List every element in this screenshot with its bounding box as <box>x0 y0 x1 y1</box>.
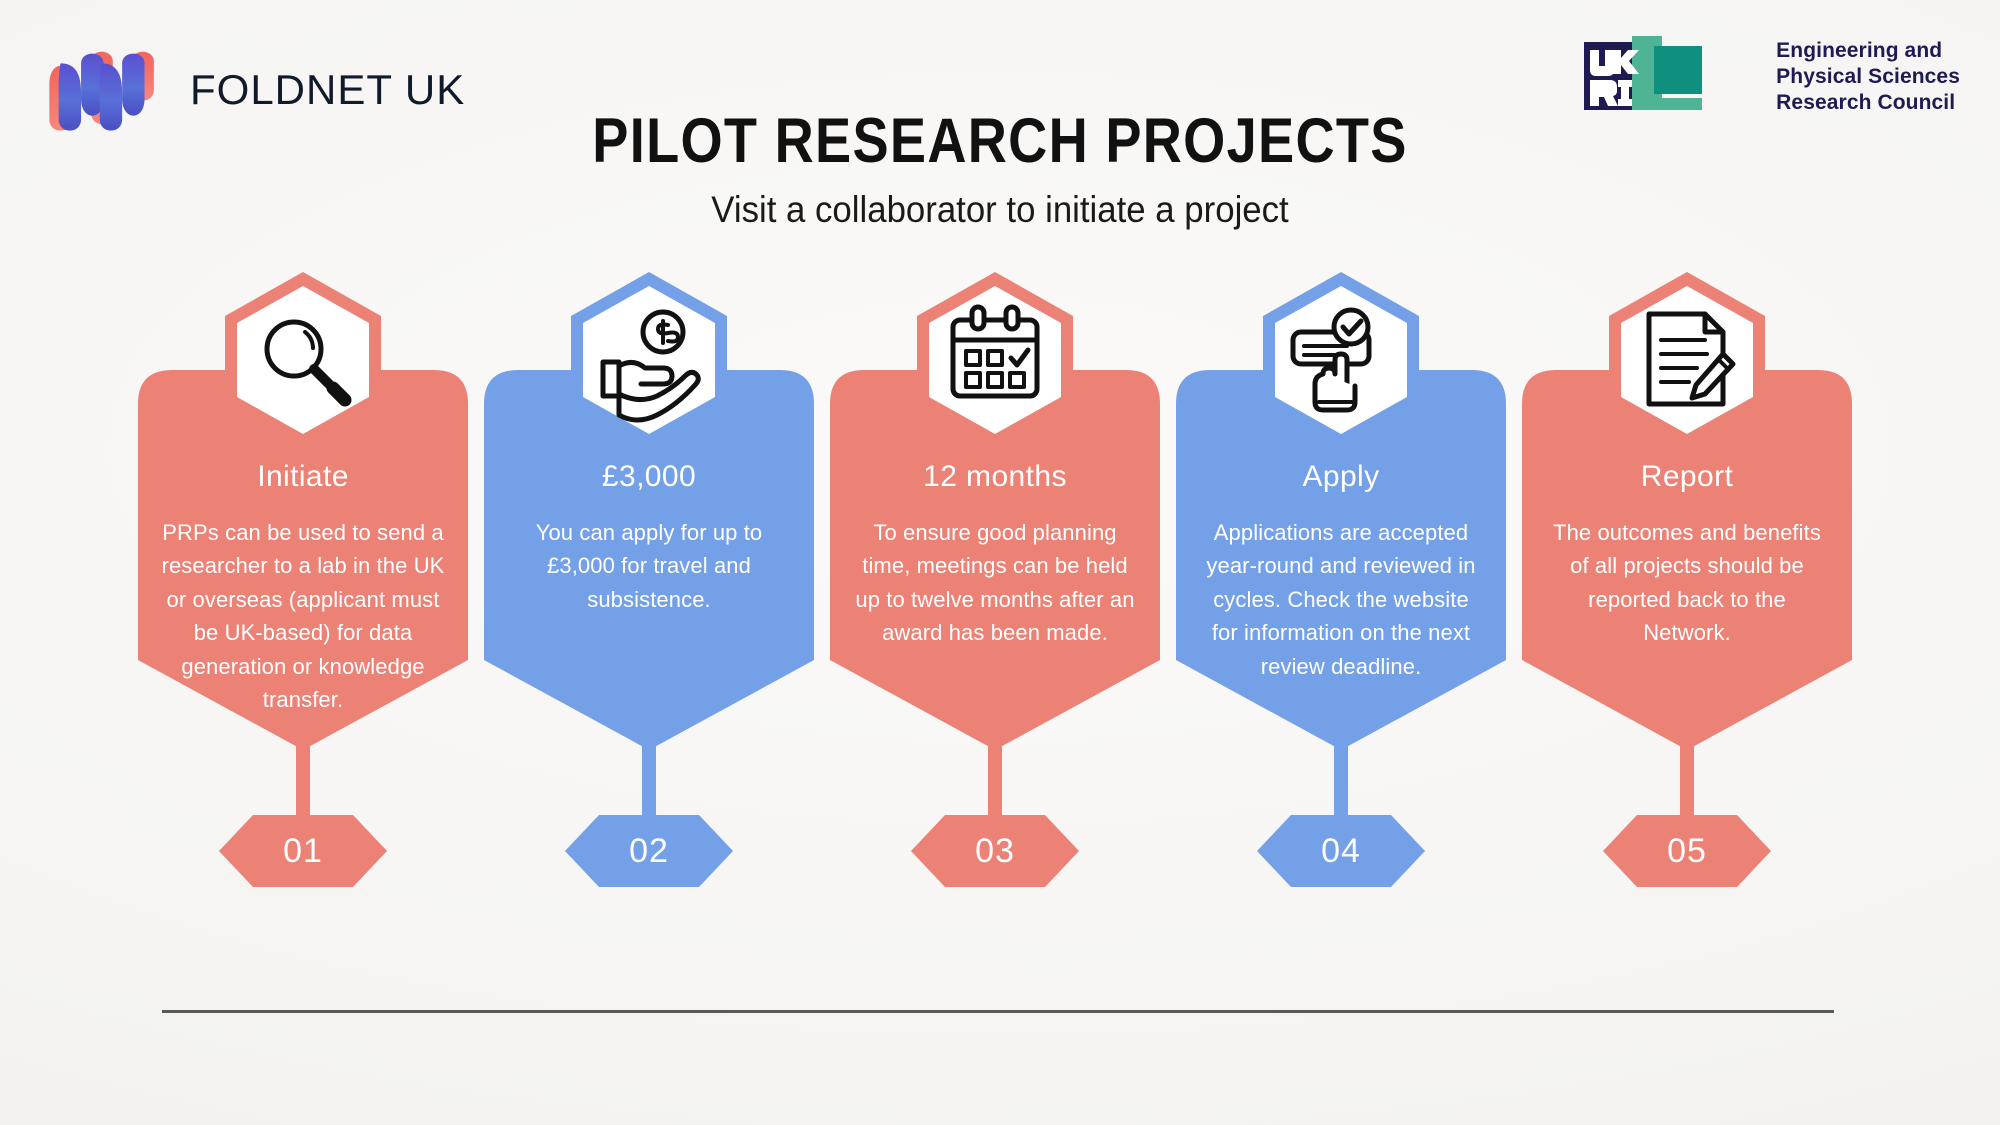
document-pencil-icon <box>1649 314 1733 404</box>
ukri-council-name: Engineering and Physical Sciences Resear… <box>1776 32 1960 115</box>
card-05-badge: 05 <box>1603 815 1771 887</box>
page-title: PILOT RESEARCH PROJECTS <box>140 110 1860 173</box>
card-01-badge: 01 <box>219 815 387 887</box>
title-block: PILOT RESEARCH PROJECTS Visit a collabor… <box>0 110 2000 231</box>
foldnet-wordmark: FOLDNET UK <box>190 66 465 114</box>
card-02-number: 02 <box>565 815 733 887</box>
card-02-heading: £3,000 <box>506 460 792 494</box>
card-04-badge: 04 <box>1257 815 1425 887</box>
card-02-text: £3,000 You can apply for up to £3,000 fo… <box>484 460 814 616</box>
card-03-heading: 12 months <box>852 460 1138 494</box>
card-04-description: Applications are accepted year-round and… <box>1198 516 1484 683</box>
card-01-heading: Initiate <box>160 460 446 494</box>
footer-divider <box>162 1010 1834 1013</box>
card-03-badge: 03 <box>911 815 1079 887</box>
card-04-icon-hexagon <box>1259 270 1423 450</box>
card-05-text: Report The outcomes and benefits of all … <box>1522 460 1852 650</box>
card-05-description: The outcomes and benefits of all project… <box>1544 516 1830 650</box>
card-05-icon-hexagon <box>1605 270 1769 450</box>
card-04-number: 04 <box>1257 815 1425 887</box>
card-02-badge: 02 <box>565 815 733 887</box>
card-05-number: 05 <box>1603 815 1771 887</box>
card-01-icon-hexagon <box>221 270 385 450</box>
page-subtitle: Visit a collaborator to initiate a proje… <box>60 189 1940 231</box>
card-01-text: Initiate PRPs can be used to send a rese… <box>138 460 468 717</box>
card-03-icon-hexagon <box>913 270 1077 450</box>
card-04-heading: Apply <box>1198 460 1484 494</box>
card-03-text: 12 months To ensure good planning time, … <box>830 460 1160 650</box>
card-01-description: PRPs can be used to send a researcher to… <box>160 516 446 717</box>
card-03-description: To ensure good planning time, meetings c… <box>852 516 1138 650</box>
card-01-number: 01 <box>219 815 387 887</box>
card-04-text: Apply Applications are accepted year-rou… <box>1176 460 1506 683</box>
card-05-heading: Report <box>1544 460 1830 494</box>
infographic-stage: FOLDNET UK PILOT RESEARCH PROJECTS Visit… <box>0 0 2000 1125</box>
card-03-number: 03 <box>911 815 1079 887</box>
card-02-description: You can apply for up to £3,000 for trave… <box>506 516 792 616</box>
ukri-epsrc-logo: Engineering and Physical Sciences Resear… <box>1584 32 1960 115</box>
cards-row: Initiate PRPs can be used to send a rese… <box>0 270 2000 970</box>
ukri-logo-icon <box>1584 32 1762 114</box>
card-02-icon-hexagon <box>567 270 731 450</box>
